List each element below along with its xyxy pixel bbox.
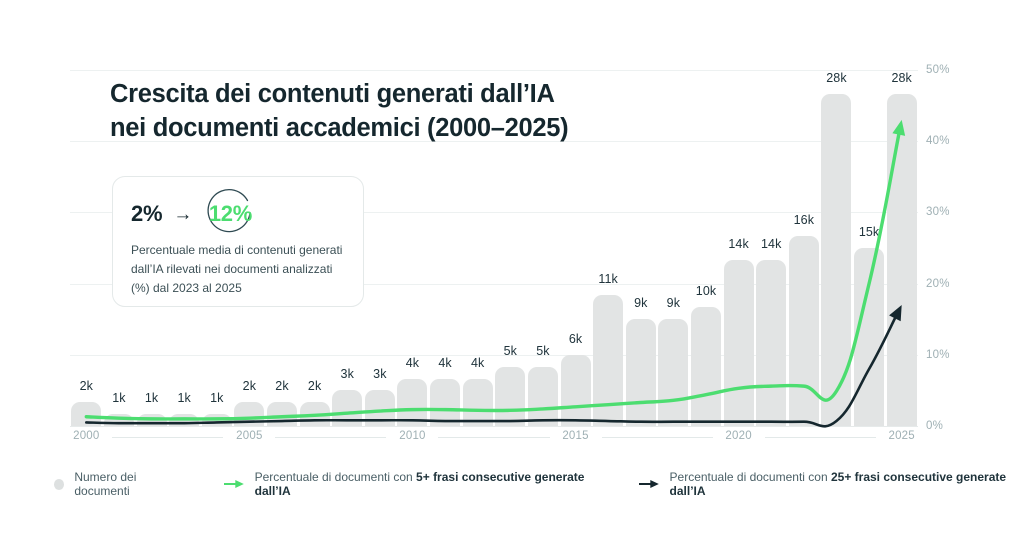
legend: Numero dei documentiPercentuale di docum… bbox=[54, 470, 1024, 498]
arrow-head-5plus-icon bbox=[892, 120, 905, 136]
legend-arrow-icon bbox=[639, 478, 660, 490]
legend-label-emphasis: 25+ frasi consecutive generate dall’IA bbox=[670, 470, 1007, 498]
gridline bbox=[70, 426, 918, 427]
y-axis-right: 50%40%30%20%10%0% bbox=[926, 70, 986, 426]
x-axis-tick-label: 2005 bbox=[236, 430, 262, 442]
legend-arrow-icon bbox=[224, 478, 245, 490]
y-axis-tick-label: 10% bbox=[926, 349, 950, 361]
callout-from-value: 2% bbox=[131, 201, 162, 227]
x-axis-tick-label: 2025 bbox=[888, 430, 914, 442]
y-axis-tick-label: 0% bbox=[926, 420, 943, 432]
x-axis-tick-label: 2010 bbox=[399, 430, 425, 442]
callout-headline: 2% → 12% bbox=[131, 191, 345, 237]
x-axis-dash bbox=[438, 437, 549, 438]
legend-dot-icon bbox=[54, 479, 64, 490]
callout-description: Percentuale media di contenuti generati … bbox=[131, 241, 345, 298]
y-axis-tick-label: 40% bbox=[926, 135, 950, 147]
legend-item[interactable]: Numero dei documenti bbox=[54, 470, 188, 498]
y-axis-tick-label: 20% bbox=[926, 278, 950, 290]
y-axis-tick-label: 30% bbox=[926, 206, 950, 218]
x-axis-dash bbox=[112, 437, 223, 438]
page-title: Crescita dei contenuti generati dall’IA … bbox=[110, 78, 568, 145]
x-axis-dash bbox=[275, 437, 386, 438]
legend-label: Percentuale di documenti con 5+ frasi co… bbox=[255, 470, 603, 498]
arrow-right-icon: → bbox=[173, 205, 192, 224]
y-axis-tick-label: 50% bbox=[926, 64, 950, 76]
chart-page: 2k1k1k1k1k2k2k2k3k3k4k4k4k5k5k6k11k9k9k1… bbox=[0, 0, 1024, 559]
title-line-1: Crescita dei contenuti generati dall’IA bbox=[110, 78, 568, 112]
x-axis-dash bbox=[602, 437, 713, 438]
legend-label-emphasis: 5+ frasi consecutive generate dall’IA bbox=[255, 470, 585, 498]
legend-item[interactable]: Percentuale di documenti con 25+ frasi c… bbox=[639, 470, 1024, 498]
x-axis-tick-label: 2020 bbox=[725, 430, 751, 442]
legend-item[interactable]: Percentuale di documenti con 5+ frasi co… bbox=[224, 470, 603, 498]
callout-ring: 12% bbox=[201, 191, 259, 237]
callout-card: 2% → 12% Percentuale media di contenuti … bbox=[112, 176, 364, 307]
x-axis-tick-label: 2015 bbox=[562, 430, 588, 442]
x-axis-dash bbox=[765, 437, 876, 438]
x-axis: 200020052010201520202025 bbox=[70, 430, 918, 450]
title-line-2: nei documenti accademici (2000–2025) bbox=[110, 112, 568, 146]
legend-label: Numero dei documenti bbox=[74, 470, 188, 498]
x-axis-tick-label: 2000 bbox=[73, 430, 99, 442]
callout-to-value: 12% bbox=[201, 191, 259, 237]
legend-label: Percentuale di documenti con 25+ frasi c… bbox=[670, 470, 1024, 498]
